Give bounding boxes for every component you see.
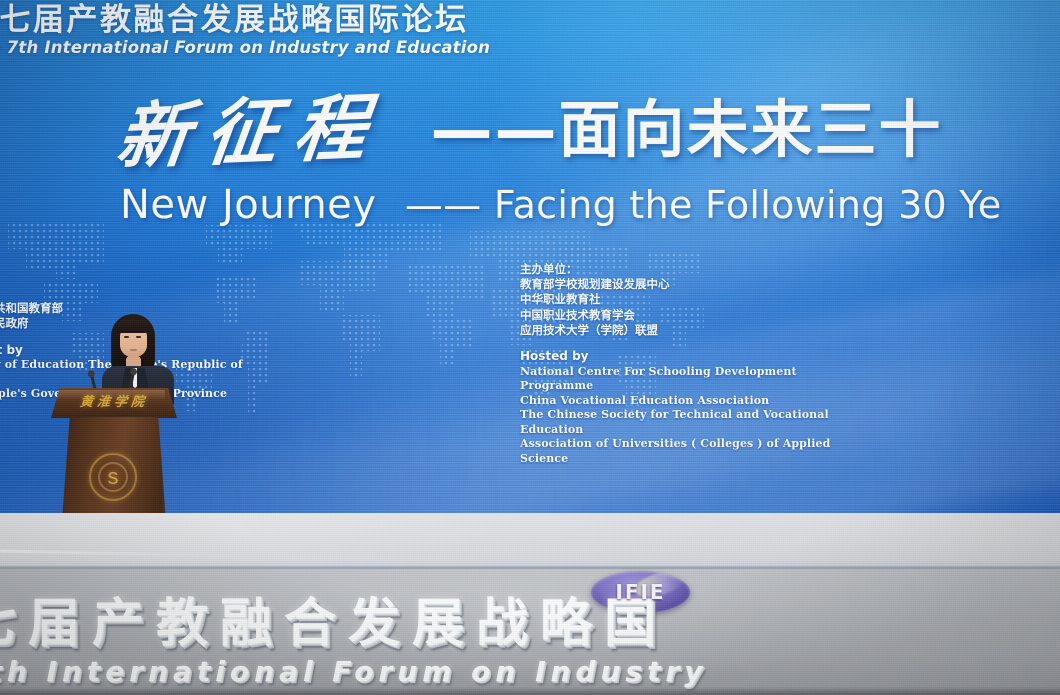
ifie-logo-text: IFIE xyxy=(615,580,665,604)
headline-english-left: New Journey xyxy=(120,182,376,228)
speaker-fringe xyxy=(117,319,150,333)
host-line-chinese: 中国职业技术教育学会 xyxy=(520,308,850,323)
headline-calligraphy-chinese: 新征程 xyxy=(113,91,387,173)
speaker-mouth xyxy=(130,349,137,351)
host-line-chinese: 中华职业教育社 xyxy=(520,292,850,307)
header-title-chinese: 第七届产教融合发展战略国际论坛 xyxy=(0,4,506,37)
host-line-chinese: 应用技术大学（学院）联盟 xyxy=(520,323,850,338)
support-label-chinese: 支持单位： xyxy=(0,286,248,301)
stage-front-english: 7th International Forum on Industry xyxy=(0,655,1060,688)
host-line-english: National Centre For Schooling Developmen… xyxy=(520,365,850,394)
header-title-english: The 7th International Forum on Industry … xyxy=(0,38,506,57)
speaker-eye-right xyxy=(136,336,141,338)
headline-subtitle-chinese: ——面向未来三十 xyxy=(430,96,942,164)
headline-english-right: —— Facing the Following 30 Ye xyxy=(405,183,1002,227)
host-label-chinese: 主办单位： xyxy=(520,262,850,277)
host-label-english: Hosted by xyxy=(520,349,850,365)
stage-front-chinese: 七届产教融合发展战略国 xyxy=(0,598,1060,650)
speaker-eye-left xyxy=(124,336,129,338)
backdrop-header: 第七届产教融合发展战略国际论坛 The 7th International Fo… xyxy=(0,4,506,57)
podium-institution-name: 黄淮学院 xyxy=(63,395,165,411)
conference-stage-photo: 第七届产教融合发展战略国际论坛 The 7th International Fo… xyxy=(0,0,1060,695)
host-line-chinese: 教育部学校规划建设发展中心 xyxy=(520,277,850,292)
headline-row: 新征程 ——面向未来三十 xyxy=(118,96,1060,168)
host-credits-block: 主办单位： 教育部学校规划建设发展中心 中华职业教育社 中国职业技术教育学会 应… xyxy=(520,262,850,466)
host-line-english: China Vocational Education Association xyxy=(520,394,850,409)
spiral-emblem-icon: ѕ xyxy=(89,453,137,501)
host-line-english: Association of Universities ( Colleges )… xyxy=(520,437,850,466)
host-line-english: The Chinese Society for Technical and Vo… xyxy=(520,408,850,437)
stage-front-lettering: 七届产教融合发展战略国 7th International Forum on I… xyxy=(0,598,1060,688)
headline-english-row: New Journey —— Facing the Following 30 Y… xyxy=(120,182,1060,228)
